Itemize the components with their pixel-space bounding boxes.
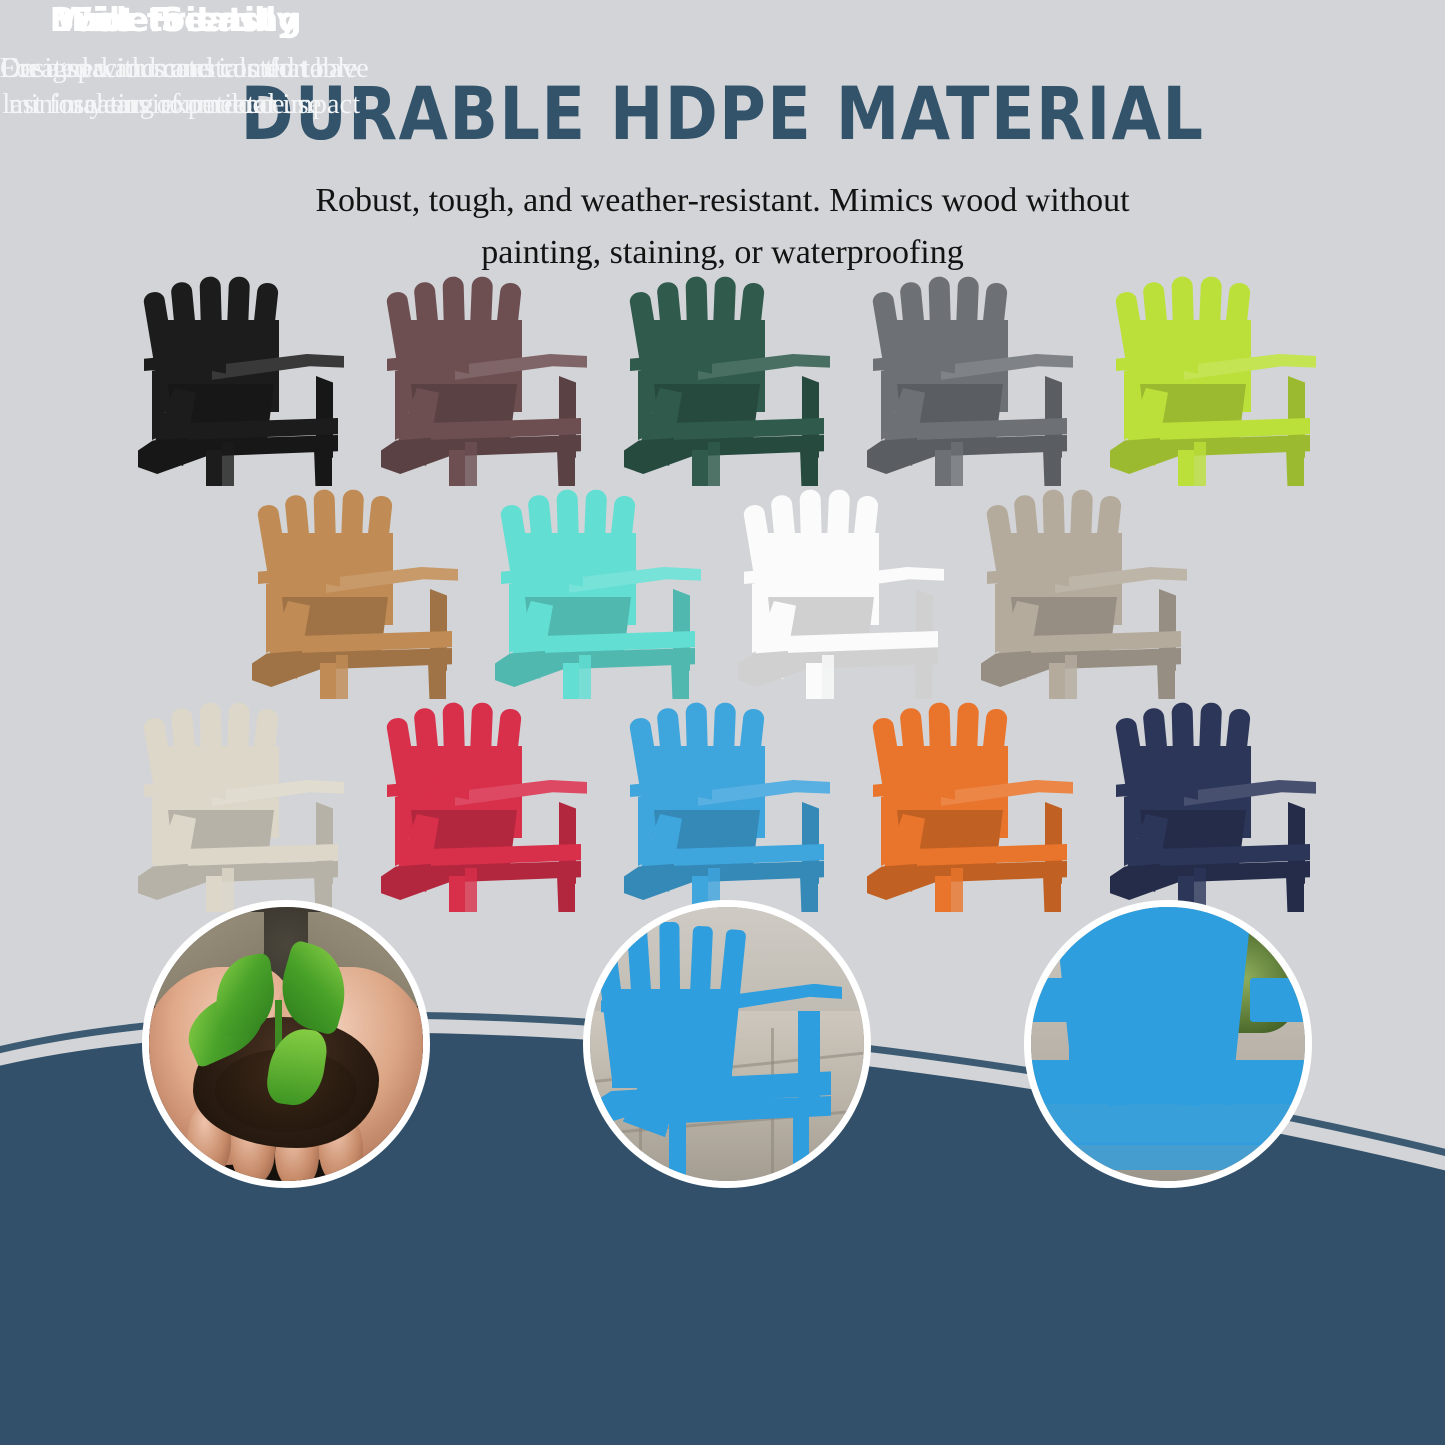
adirondack-chair-illustration [738, 485, 953, 698]
page-subtitle: Robust, tough, and weather-resistant. Mi… [218, 175, 1228, 278]
adirondack-chair-illustration [138, 698, 353, 911]
adirondack-chair-illustration [867, 698, 1082, 911]
adirondack-chair-illustration [981, 485, 1196, 698]
chair-swatch-ivory[interactable] [138, 698, 353, 911]
feature-desc-line-2: seating experience [73, 89, 284, 120]
adirondack-chair-illustration [624, 698, 839, 911]
built-to-last-photo-circle [583, 900, 871, 1188]
chair-swatch-light-blue[interactable] [624, 698, 839, 911]
chair-in-photo [590, 907, 864, 1181]
adirondack-chair-illustration [138, 272, 353, 485]
chair-swatch-teak[interactable] [252, 485, 467, 698]
adirondack-chair-illustration [381, 272, 596, 485]
wide-seating-photo-circle [1024, 900, 1312, 1188]
subtitle-line-1: Robust, tough, and weather-resistant. Mi… [218, 175, 1228, 227]
chair-swatch-dark-brown[interactable] [381, 272, 596, 485]
chair-swatch-white[interactable] [738, 485, 953, 698]
chair-swatch-black[interactable] [138, 272, 353, 485]
feature-wide-seating: Wide Seating For a spacious and comforta… [0, 0, 358, 123]
adirondack-chair-illustration [1110, 272, 1325, 485]
adirondack-chair-illustration [495, 485, 710, 698]
chair-color-grid [0, 272, 1445, 911]
adirondack-chair-illustration [252, 485, 467, 698]
feature-title: Wide Seating [0, 0, 358, 39]
chair-swatch-lime-green[interactable] [1110, 272, 1325, 485]
chair-swatch-orange[interactable] [867, 698, 1082, 911]
chair-swatch-taupe[interactable] [981, 485, 1196, 698]
chair-swatch-dark-green[interactable] [624, 272, 839, 485]
adirondack-chair-illustration [1110, 698, 1325, 911]
eco-friendly-photo-circle [142, 900, 430, 1188]
adirondack-chair-illustration [381, 698, 596, 911]
adirondack-chair-illustration [624, 272, 839, 485]
blue-adirondack-chair-on-patio-photo [590, 907, 864, 1181]
chair-row-3 [0, 698, 1445, 911]
subtitle-line-2: painting, staining, or waterproofing [218, 227, 1228, 279]
hands-holding-seedling-photo [149, 907, 423, 1181]
adirondack-chair-illustration [867, 272, 1082, 485]
blue-chair-wide-seat-closeup-photo [1031, 907, 1305, 1181]
chair-swatch-red[interactable] [381, 698, 596, 911]
chair-row-1 [0, 272, 1445, 485]
chair-swatch-turquoise[interactable] [495, 485, 710, 698]
chair-seat-closeup [1031, 907, 1305, 1181]
chair-swatch-navy-blue[interactable] [1110, 698, 1325, 911]
feature-desc-line-1: For a spacious and comfortable [0, 53, 358, 84]
chair-row-2 [0, 485, 1445, 698]
chair-swatch-gray[interactable] [867, 272, 1082, 485]
